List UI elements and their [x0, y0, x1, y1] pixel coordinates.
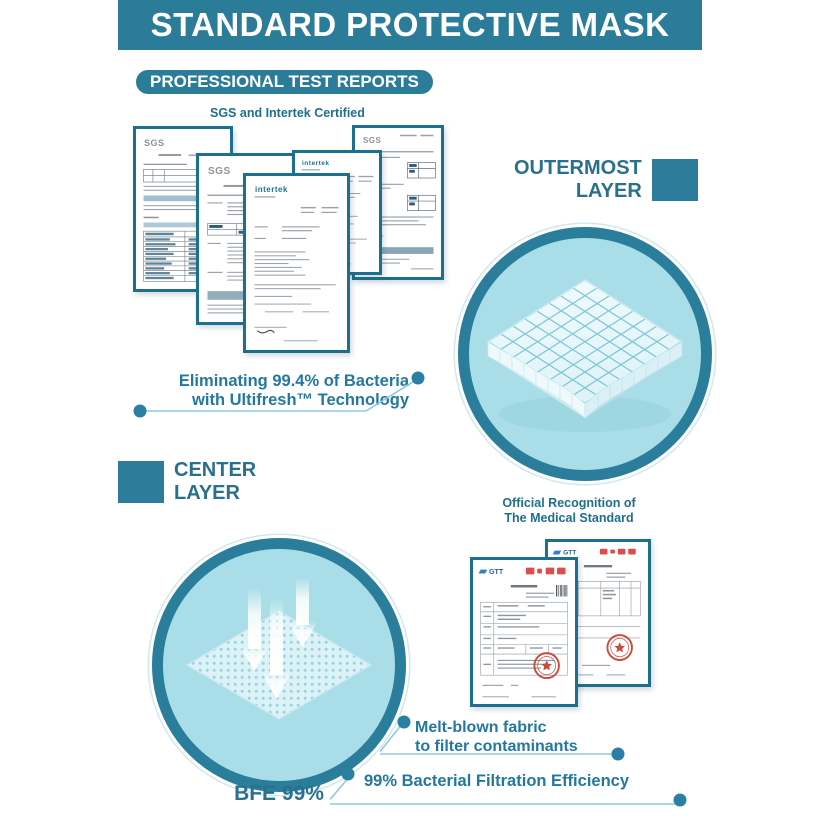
gtt-logo: GTT: [553, 549, 577, 556]
outermost-layer-label: OUTERMOST LAYER: [514, 157, 698, 203]
callout-dot: [342, 768, 355, 781]
red-star-seal: [607, 635, 632, 660]
official-recognition-subheading: Official Recognition of The Medical Stan…: [489, 496, 649, 526]
page-title: STANDARD PROTECTIVE MASK: [151, 6, 670, 44]
center-layer-illustration-circle: [152, 538, 406, 792]
callout-dot: [674, 794, 687, 807]
infographic-canvas: STANDARD PROTECTIVE MASK PROFESSIONAL TE…: [0, 0, 820, 820]
center-label-line2: LAYER: [174, 482, 256, 505]
header-bar: STANDARD PROTECTIVE MASK: [118, 0, 702, 50]
woven-mesh-sheet-icon: [469, 238, 701, 470]
center-color-swatch: [118, 461, 164, 503]
official-subhead-line2: The Medical Standard: [489, 511, 649, 526]
callout-dot: [412, 372, 425, 385]
svg-text:GTT: GTT: [563, 549, 576, 556]
callout-meltblown-connector: [380, 712, 680, 767]
outermost-color-swatch: [652, 159, 698, 201]
gtt-logo: GTT: [479, 568, 504, 576]
document-body-lines: [246, 176, 347, 350]
section-badge-professional-test-reports: PROFESSIONAL TEST REPORTS: [136, 70, 433, 94]
callout-bfe-efficiency-connector: [330, 762, 690, 817]
certificate-body: GTT: [473, 560, 575, 704]
callout-dot: [134, 405, 147, 418]
center-layer-text: CENTER LAYER: [174, 459, 256, 505]
outermost-layer-text: OUTERMOST LAYER: [514, 157, 642, 203]
outermost-label-line1: OUTERMOST: [514, 157, 642, 180]
callout-bacteria-connector: [120, 365, 440, 425]
chinese-header-text: [526, 568, 566, 575]
filter-sheet-arrows-icon: [163, 549, 395, 781]
sgs-subheading: SGS and Intertek Certified: [210, 106, 365, 121]
chinese-header-text: [600, 549, 636, 555]
center-label-line1: CENTER: [174, 459, 256, 482]
red-star-seal: [534, 653, 559, 678]
callout-dot: [612, 748, 625, 761]
document-sheet-intertek-1: intertek: [243, 173, 350, 353]
svg-text:GTT: GTT: [489, 568, 504, 576]
callout-dot: [398, 716, 411, 729]
barcode: [556, 585, 567, 597]
center-layer-label: CENTER LAYER: [118, 459, 256, 505]
official-subhead-line1: Official Recognition of: [489, 496, 649, 511]
outermost-layer-illustration-circle: [458, 227, 712, 481]
section-badge-label: PROFESSIONAL TEST REPORTS: [150, 72, 419, 92]
outermost-label-line2: LAYER: [514, 180, 642, 203]
medical-certificate-1: GTT: [470, 557, 578, 707]
